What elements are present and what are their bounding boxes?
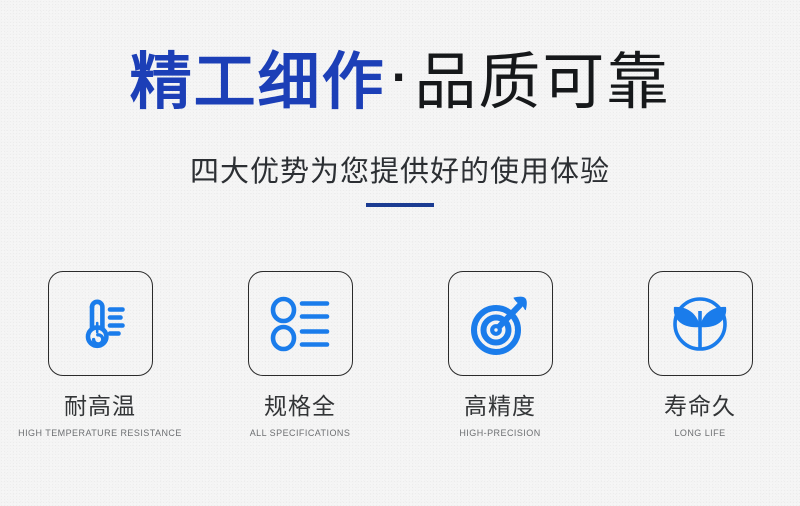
headline-primary: 精工细作 <box>130 48 386 117</box>
feature-title: 高精度 <box>464 394 536 419</box>
page-title: 精工细作·品质可靠 <box>0 52 800 114</box>
icon-frame <box>248 271 353 376</box>
feature-caption: LONG LIFE <box>674 428 725 439</box>
icon-frame <box>448 271 553 376</box>
feature-item-high-precision: 高精度 HIGH-PRECISION <box>400 271 600 438</box>
feature-list: 耐高温 HIGH TEMPERATURE RESISTANCE <box>0 271 800 438</box>
feature-caption: HIGH TEMPERATURE RESISTANCE <box>18 428 182 439</box>
feature-item-high-temperature: 耐高温 HIGH TEMPERATURE RESISTANCE <box>0 271 200 438</box>
thermometer-icon <box>69 293 131 355</box>
feature-item-all-specifications: 规格全 ALL SPECIFICATIONS <box>200 271 400 438</box>
target-dart-icon <box>468 292 532 356</box>
feature-title: 规格全 <box>264 394 336 419</box>
icon-frame <box>648 271 753 376</box>
feature-title: 耐高温 <box>64 394 136 419</box>
feature-caption: ALL SPECIFICATIONS <box>250 428 351 439</box>
list-bullets-icon <box>269 294 331 354</box>
feature-caption: HIGH-PRECISION <box>459 428 540 439</box>
page-subtitle: 四大优势为您提供好的使用体验 <box>0 148 800 190</box>
headline-separator: · <box>386 49 415 105</box>
section-divider <box>366 203 434 207</box>
sprout-leaf-icon <box>668 293 732 355</box>
promo-banner: 精工细作·品质可靠 四大优势为您提供好的使用体验 <box>0 0 800 506</box>
feature-item-long-life: 寿命久 LONG LIFE <box>600 271 800 438</box>
feature-title: 寿命久 <box>664 394 736 419</box>
icon-frame <box>48 271 153 376</box>
headline-secondary: 品质可靠 <box>414 48 670 117</box>
